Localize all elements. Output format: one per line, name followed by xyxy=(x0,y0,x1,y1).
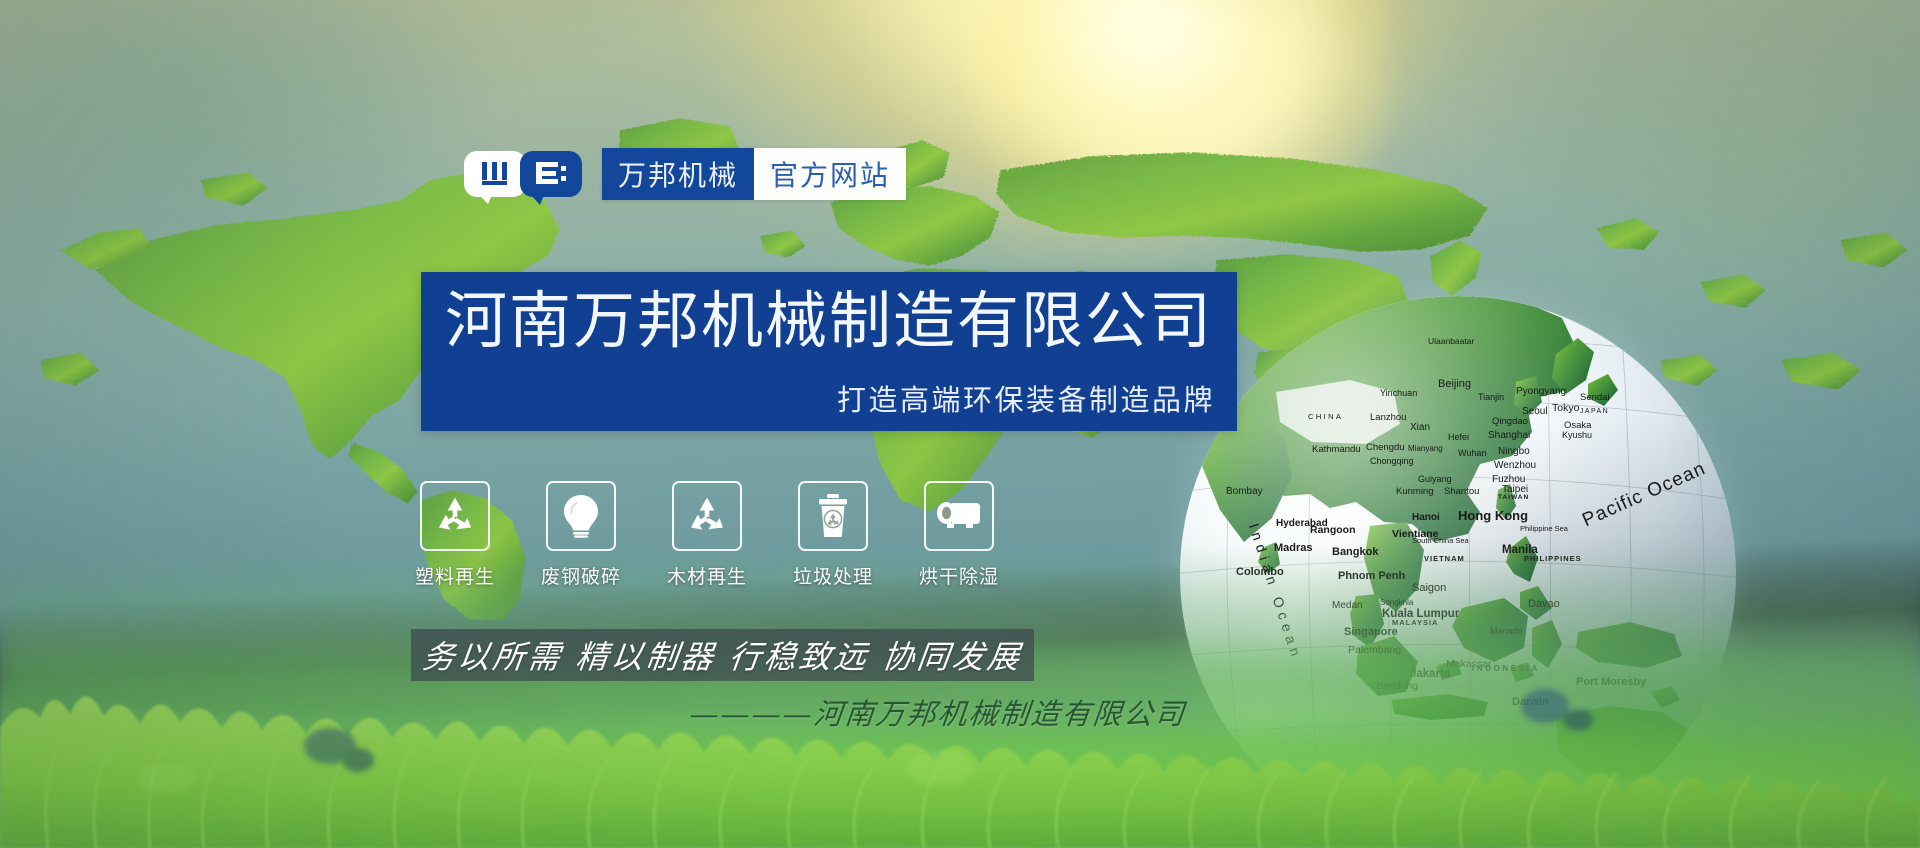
page-subtitle: 打造高端环保装备制造品牌 xyxy=(837,377,1215,419)
speech-bubble-b-icon xyxy=(520,151,582,197)
feature-label: 垃圾处理 xyxy=(793,562,873,589)
feature-label: 塑料再生 xyxy=(415,562,495,589)
feature-item-drying-dehumidifying[interactable]: 烘干除湿 xyxy=(924,481,994,589)
feature-label: 废钢破碎 xyxy=(541,562,621,589)
feature-icon-box xyxy=(546,481,616,551)
recycle-icon xyxy=(685,494,729,538)
feature-item-scrap-steel-crushing[interactable]: 废钢破碎 xyxy=(546,481,616,589)
feature-icon-box xyxy=(420,481,490,551)
feature-item-wood-recycling[interactable]: 木材再生 xyxy=(672,481,742,589)
recycle-icon xyxy=(433,494,477,538)
dryer-machine-icon xyxy=(935,499,983,533)
feature-icon-row: 塑料再生 废钢破碎 xyxy=(420,481,994,589)
page-title: 河南万邦机械制造有限公司 xyxy=(445,284,1213,357)
tab-brand-name[interactable]: 万邦机械 xyxy=(602,148,754,200)
header-logo-row: 万邦机械 官方网站 xyxy=(464,148,906,200)
feature-label: 木材再生 xyxy=(667,562,747,589)
hero-banner-page: Pacific Ocean Indian Ocean South China S… xyxy=(0,0,1920,848)
company-logo[interactable] xyxy=(464,150,582,198)
feature-item-waste-treatment[interactable]: 垃圾处理 xyxy=(798,481,868,589)
feature-icon-box xyxy=(672,481,742,551)
tab-official-site[interactable]: 官方网站 xyxy=(754,148,906,200)
feature-icon-box xyxy=(924,481,994,551)
feature-item-plastic-recycling[interactable]: 塑料再生 xyxy=(420,481,490,589)
trash-bin-recycle-icon xyxy=(814,493,852,539)
slogan-text: 务以所需 精以制器 行稳致远 协同发展 xyxy=(420,632,1025,678)
lightbulb-icon xyxy=(561,493,601,539)
feature-label: 烘干除湿 xyxy=(919,562,999,589)
slogan-signature: ————河南万邦机械制造有限公司 xyxy=(688,691,1188,733)
feature-icon-box xyxy=(798,481,868,551)
speech-bubble-w-icon xyxy=(464,151,526,197)
slogan-bar: 务以所需 精以制器 行稳致远 协同发展 xyxy=(411,629,1034,681)
brand-tabs: 万邦机械 官方网站 xyxy=(602,148,906,200)
main-title-banner: 河南万邦机械制造有限公司 打造高端环保装备制造品牌 xyxy=(421,272,1237,431)
